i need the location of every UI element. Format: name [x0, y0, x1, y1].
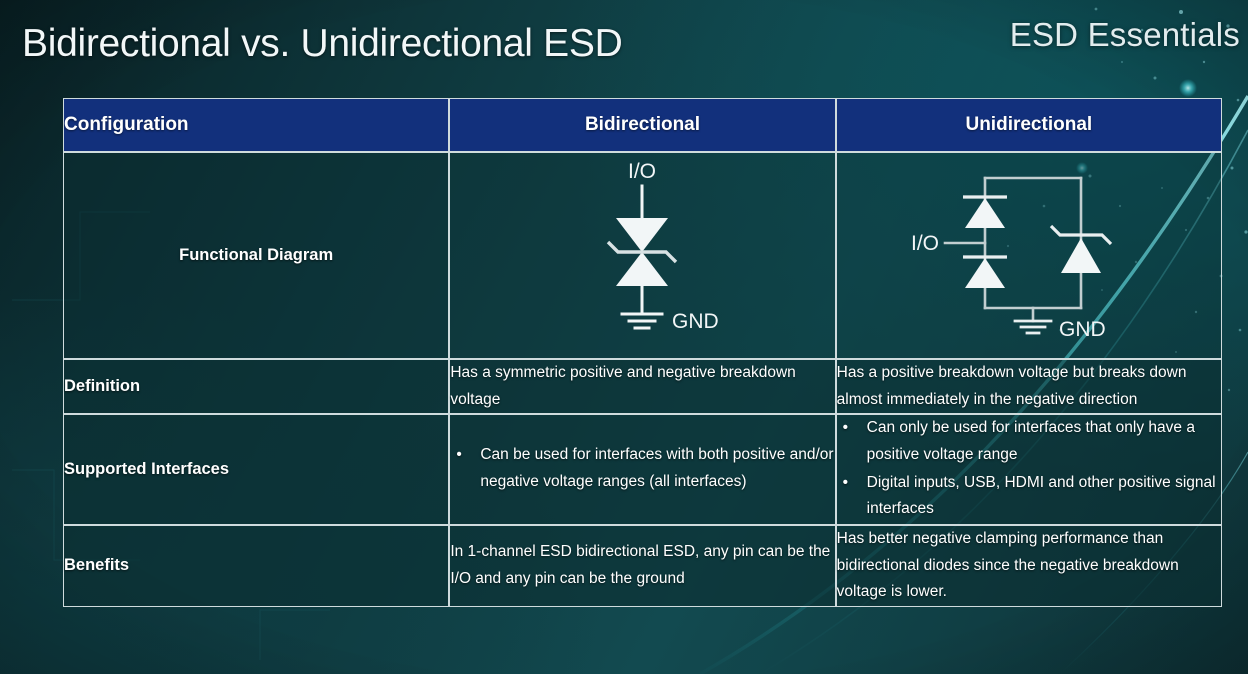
column-header-configuration: Configuration [63, 98, 449, 152]
list-item: • Can only be used for interfaces that o… [837, 415, 1221, 468]
cell-text: Has a symmetric positive and negative br… [450, 360, 834, 413]
table-row-definition: Definition Has a symmetric positive and … [63, 359, 1222, 414]
bidirectional-tvs-diode-icon: I/O GND [542, 158, 742, 348]
column-header-bidirectional: Bidirectional [449, 98, 835, 152]
table-row-benefits: Benefits In 1-channel ESD bidirectional … [63, 525, 1222, 607]
list-item-text: Digital inputs, USB, HDMI and other posi… [867, 474, 1216, 518]
cell-supported-interfaces-bidirectional: • Can be used for interfaces with both p… [449, 414, 835, 525]
gnd-label-bidirectional: GND [672, 310, 719, 333]
comparison-table: Configuration Bidirectional Unidirection… [63, 98, 1222, 607]
cell-benefits-unidirectional: Has better negative clamping performance… [836, 525, 1222, 607]
cell-supported-interfaces-unidirectional: • Can only be used for interfaces that o… [836, 414, 1222, 525]
cell-text: Has better negative clamping performance… [837, 526, 1221, 606]
page-title: Bidirectional vs. Unidirectional ESD [22, 22, 622, 66]
row-label-supported-interfaces: Supported Interfaces [63, 414, 449, 525]
steering-diode-lower [965, 258, 1005, 288]
io-label-unidirectional: I/O [911, 232, 939, 255]
list-item-text: Can be used for interfaces with both pos… [480, 446, 833, 490]
bullet-list: • Can only be used for interfaces that o… [837, 415, 1221, 523]
zener-diode-triangle [1061, 238, 1101, 273]
bullet-icon: • [456, 442, 461, 469]
list-item: • Digital inputs, USB, HDMI and other po… [837, 470, 1221, 523]
bullet-list: • Can be used for interfaces with both p… [450, 442, 834, 495]
cell-definition-bidirectional: Has a symmetric positive and negative br… [449, 359, 835, 414]
column-header-unidirectional: Unidirectional [836, 98, 1222, 152]
list-item-text: Can only be used for interfaces that onl… [867, 419, 1195, 463]
table-body: Functional Diagram [63, 152, 1222, 607]
gnd-label-unidirectional: GND [1059, 318, 1106, 341]
table-header: Configuration Bidirectional Unidirection… [63, 98, 1222, 152]
cell-text: In 1-channel ESD bidirectional ESD, any … [450, 539, 834, 592]
table-header-row: Configuration Bidirectional Unidirection… [63, 98, 1222, 152]
cell-benefits-bidirectional: In 1-channel ESD bidirectional ESD, any … [449, 525, 835, 607]
bullet-icon: • [843, 470, 848, 497]
cell-bidirectional-diagram: I/O GND [449, 152, 835, 359]
cell-definition-unidirectional: Has a positive breakdown voltage but bre… [836, 359, 1222, 414]
bullet-icon: • [843, 415, 848, 442]
diode-triangle-bottom [616, 252, 668, 286]
slide-canvas: Bidirectional vs. Unidirectional ESD ESD… [0, 0, 1248, 674]
table-row-functional-diagram: Functional Diagram [63, 152, 1222, 359]
cell-text: Has a positive breakdown voltage but bre… [837, 360, 1221, 413]
unidirectional-esd-circuit-icon: I/O GND [899, 158, 1159, 348]
diode-triangle-top [616, 218, 668, 252]
row-label-benefits: Benefits [63, 525, 449, 607]
steering-diode-upper [965, 198, 1005, 228]
brand-label: ESD Essentials [1010, 16, 1240, 54]
list-item: • Can be used for interfaces with both p… [450, 442, 834, 495]
row-label-definition: Definition [63, 359, 449, 414]
row-label-functional-diagram: Functional Diagram [63, 152, 449, 359]
io-label-bidirectional: I/O [628, 160, 656, 183]
table-row-supported-interfaces: Supported Interfaces • Can be used for i… [63, 414, 1222, 525]
cell-unidirectional-diagram: I/O GND [836, 152, 1222, 359]
